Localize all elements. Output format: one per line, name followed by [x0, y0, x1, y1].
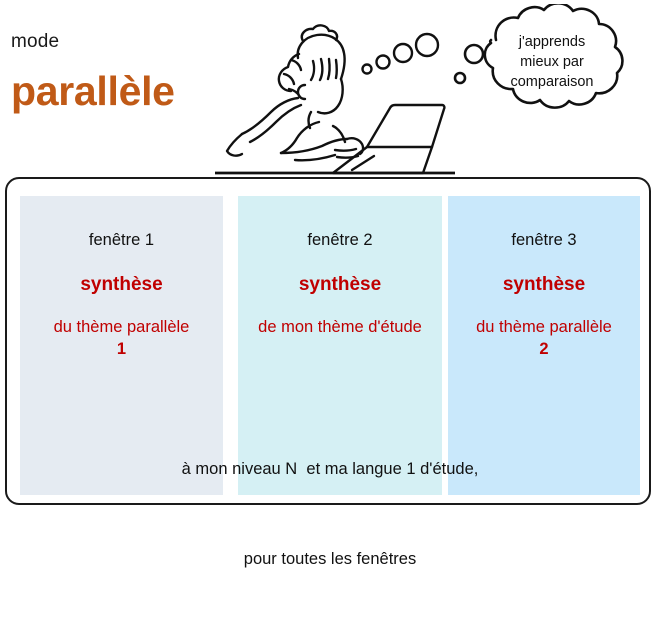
synthesis-label-1: synthèse	[20, 274, 223, 296]
window-label-2: fenêtre 2	[238, 230, 442, 250]
windows-columns: fenêtre 1 synthèse du thème parallèle 1 …	[7, 179, 653, 507]
window-description-3: du thème parallèle 2	[448, 316, 640, 360]
student-at-laptop-illustration	[215, 0, 455, 175]
window-description-1: du thème parallèle 1	[20, 316, 223, 360]
window-description-text-3: du thème parallèle	[476, 318, 612, 336]
window-label-1: fenêtre 1	[20, 230, 223, 250]
footer-note-line-1: à mon niveau N et ma langue 1 d'étude,	[7, 454, 653, 484]
window-label-3: fenêtre 3	[448, 230, 640, 250]
synthesis-label-3: synthèse	[448, 274, 640, 296]
thought-line-3: comparaison	[510, 74, 593, 90]
window-description-text-2: de mon thème	[258, 318, 363, 336]
synthesis-label-2: synthèse	[238, 274, 442, 296]
window-description-2: de mon thème d'étude	[238, 316, 442, 338]
thought-line-1: j'apprends	[519, 34, 585, 50]
window-description-emphasis-1: 1	[22, 338, 221, 360]
header-region: mode parallèle	[0, 0, 657, 175]
thought-bubble: j'apprends mieux par comparaison	[452, 4, 652, 134]
parallel-mode-panel: fenêtre 1 synthèse du thème parallèle 1 …	[5, 177, 651, 505]
thought-bubble-text: j'apprends mieux par comparaison	[478, 32, 626, 92]
mode-title: parallèle	[11, 68, 175, 115]
panel-footer-note: à mon niveau N et ma langue 1 d'étude, p…	[7, 394, 653, 634]
footer-note-line-2: pour toutes les fenêtres	[7, 544, 653, 574]
window-description-emphasis-3: 2	[450, 338, 638, 360]
thought-line-2: mieux par	[520, 54, 584, 70]
mode-label: mode	[11, 31, 59, 53]
window-description-emphasis-2: d'étude	[368, 318, 422, 336]
window-description-text-1: du thème parallèle	[54, 318, 190, 336]
